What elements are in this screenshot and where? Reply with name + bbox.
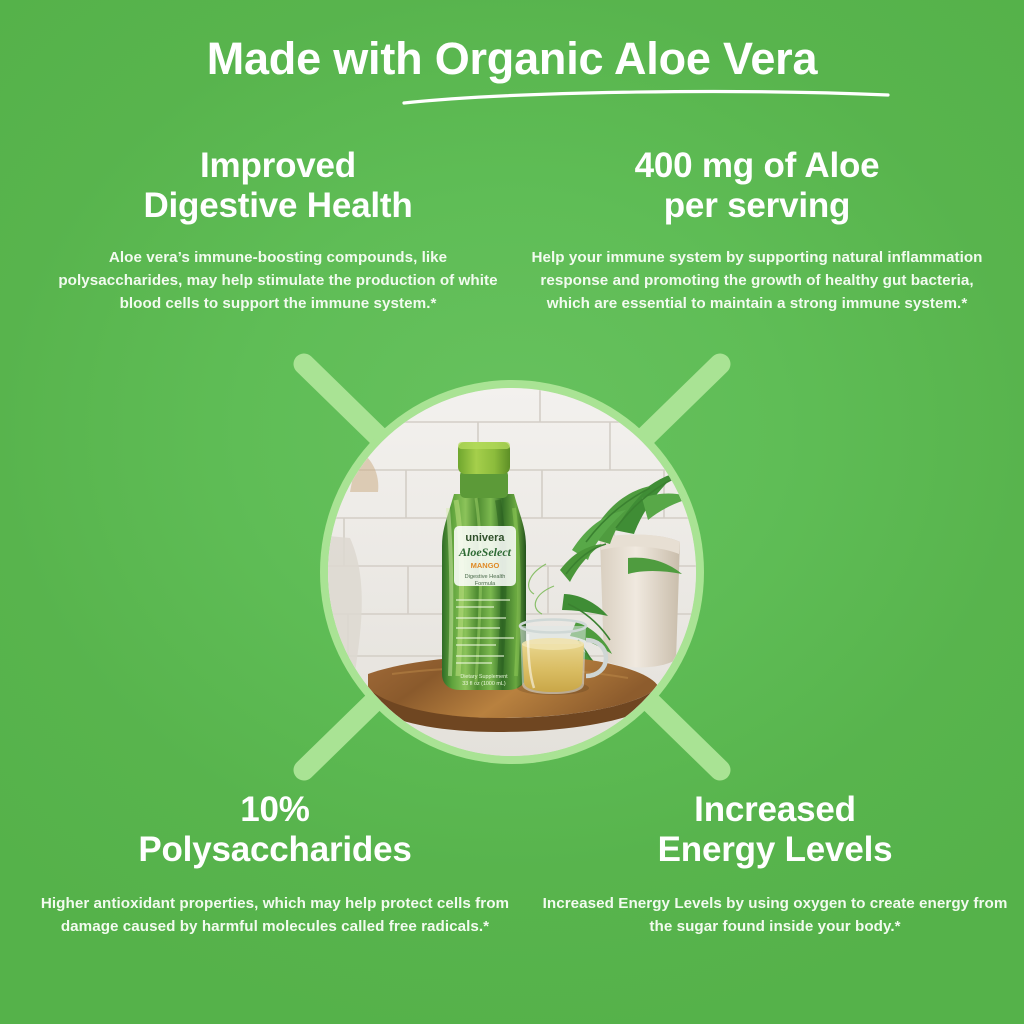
section-400-mg-of-aloe: 400 mg of Aloe per serving Help your imm…	[518, 146, 996, 315]
section-body-text: Higher antioxidant properties, which may…	[40, 892, 510, 938]
infographic-page: Made with Organic Aloe Vera Improved Dig…	[0, 0, 1024, 1024]
section-heading-line1: Improved	[200, 146, 356, 185]
section-improved-digestive-health: Improved Digestive Health Aloe vera’s im…	[52, 146, 504, 315]
section-heading-line1: Increased	[694, 790, 856, 829]
svg-text:Dietary Supplement: Dietary Supplement	[460, 674, 508, 680]
header-block: Made with Organic Aloe Vera	[0, 34, 1024, 84]
svg-text:33 fl oz (1000 mL): 33 fl oz (1000 mL)	[462, 681, 506, 687]
photo-ring-border: univera AloeSelect MANGO Digestive Healt…	[320, 380, 704, 764]
section-heading: 400 mg of Aloe per serving	[518, 146, 996, 226]
svg-text:univera: univera	[465, 532, 505, 544]
svg-text:AloeSelect: AloeSelect	[458, 545, 512, 559]
section-10-percent-polysaccharides: 10% Polysaccharides Higher antioxidant p…	[40, 790, 510, 938]
section-heading: 10% Polysaccharides	[40, 790, 510, 870]
section-heading: Increased Energy Levels	[540, 790, 1010, 870]
section-body-text: Increased Energy Levels by using oxygen …	[540, 892, 1010, 938]
title-underline-swoosh	[396, 86, 896, 108]
product-photo-illustration: univera AloeSelect MANGO Digestive Healt…	[328, 388, 696, 756]
section-heading-line2: Digestive Health	[143, 186, 412, 225]
svg-text:MANGO: MANGO	[471, 561, 500, 570]
section-heading: Improved Digestive Health	[52, 146, 504, 226]
section-heading-line2: per serving	[664, 186, 851, 225]
section-increased-energy-levels: Increased Energy Levels Increased Energy…	[540, 790, 1010, 938]
section-heading-line2: Polysaccharides	[138, 830, 411, 869]
section-heading-line1: 400 mg of Aloe	[635, 146, 880, 185]
svg-text:Digestive Health: Digestive Health	[465, 574, 506, 580]
section-heading-line2: Energy Levels	[658, 830, 893, 869]
page-title: Made with Organic Aloe Vera	[0, 34, 1024, 84]
product-photo: univera AloeSelect MANGO Digestive Healt…	[328, 388, 696, 756]
section-heading-line1: 10%	[240, 790, 309, 829]
center-product-graphic: univera AloeSelect MANGO Digestive Healt…	[242, 297, 782, 837]
svg-text:Formula: Formula	[475, 581, 496, 587]
